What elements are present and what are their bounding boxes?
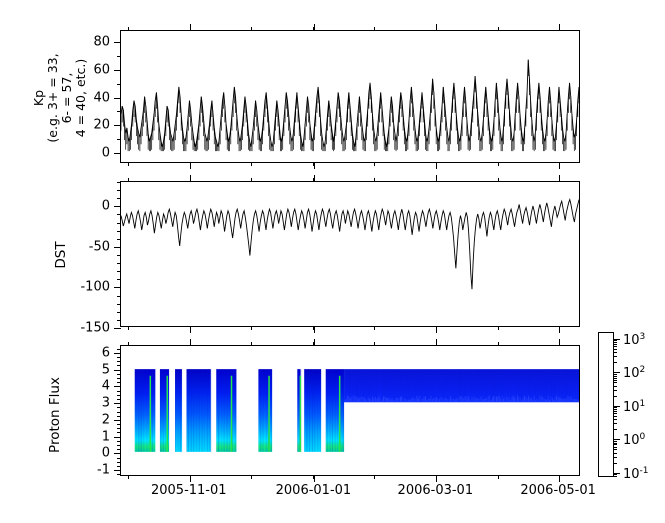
x-tick-label: 2006-01-01 [276,484,352,497]
figure-canvas: 020406080 Kp (e.g. 3+ = 33, 6- = 57, 4 =… [0,0,665,523]
x-tick-label: 2006-05-01 [520,484,596,497]
x-axis-tick-labels: 2005-11-012006-01-012006-03-012006-05-01 [0,0,665,523]
x-tick-label: 2006-03-01 [398,484,474,497]
x-tick-label: 2005-11-01 [151,484,227,497]
